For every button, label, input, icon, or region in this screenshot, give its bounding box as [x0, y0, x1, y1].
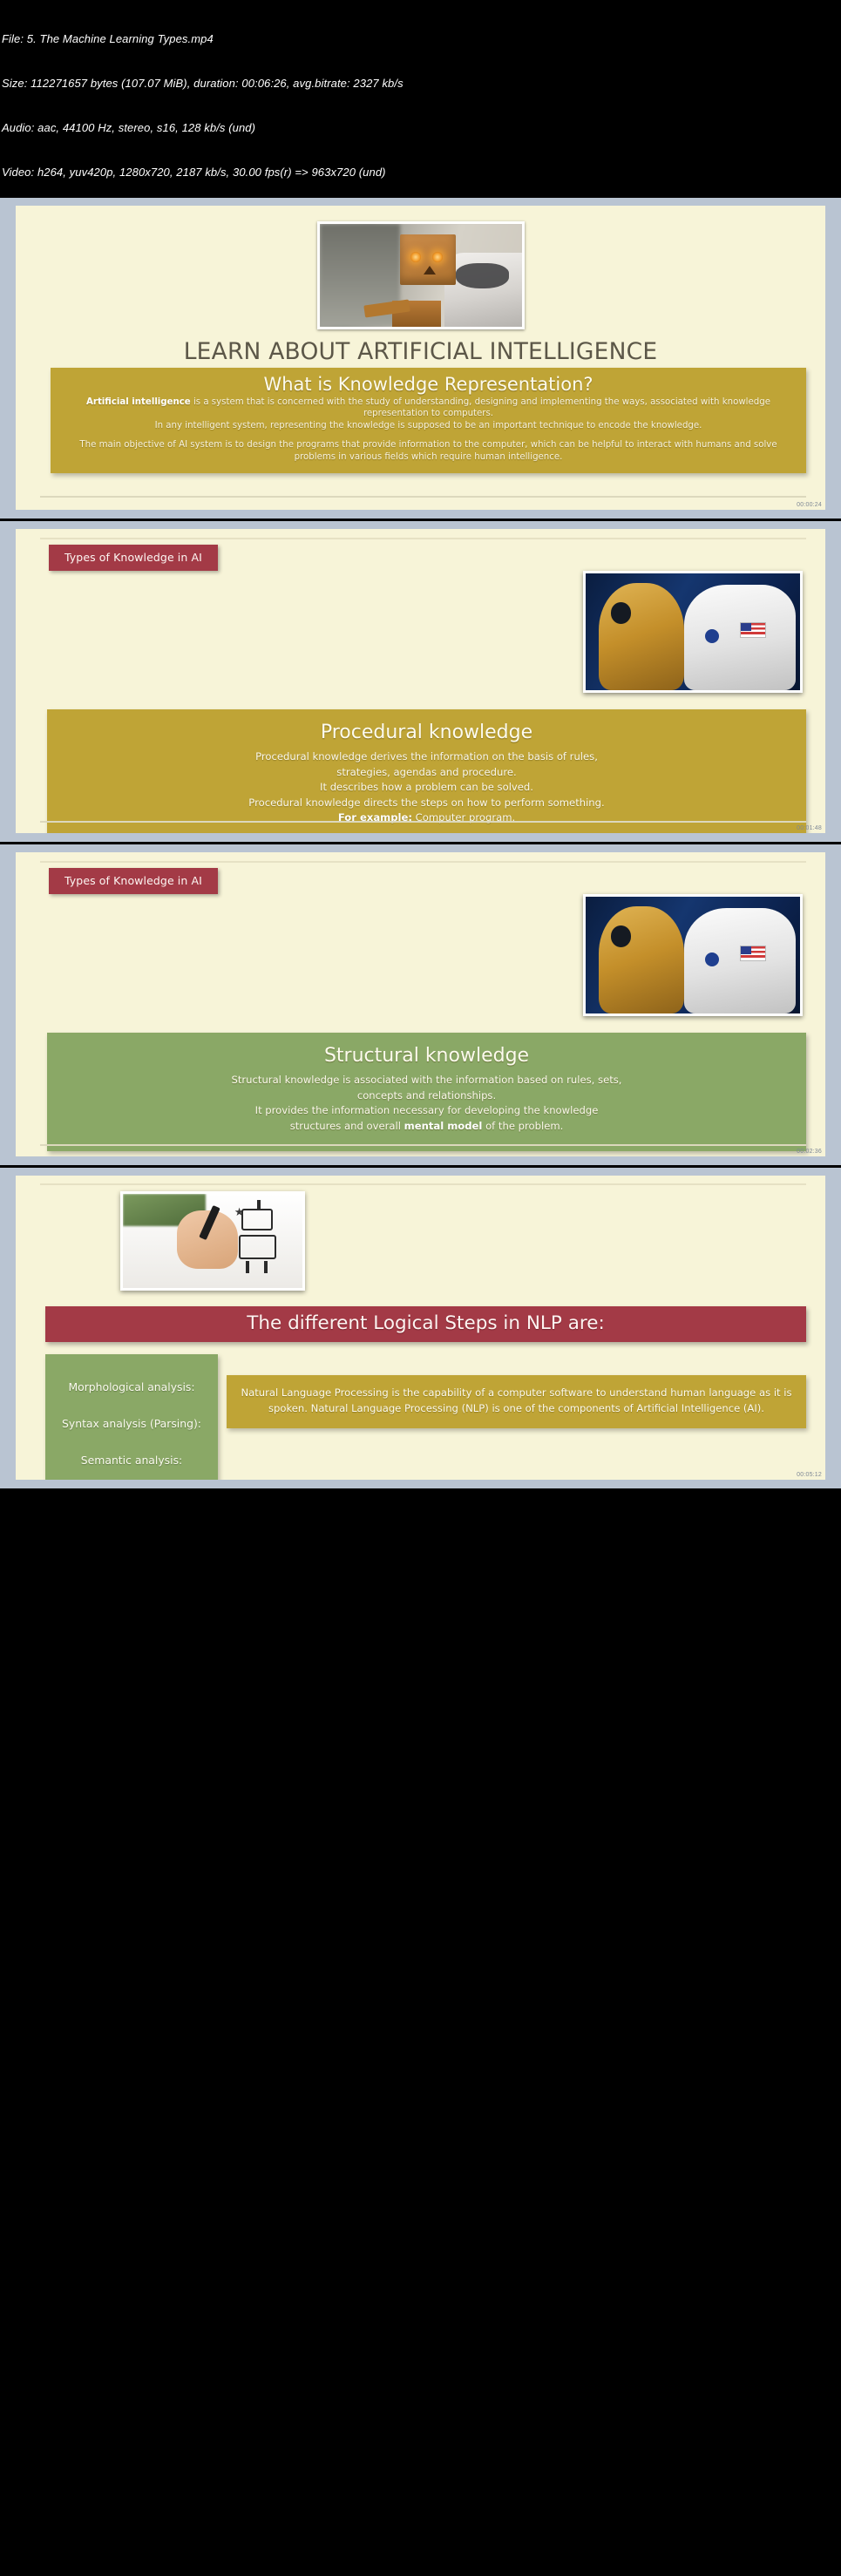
- media-info-video: Video: h264, yuv420p, 1280x720, 2187 kb/…: [2, 165, 839, 180]
- slide-1-photo: [317, 221, 525, 329]
- slide-4-note-text: Natural Language Processing is the capab…: [239, 1386, 794, 1416]
- thumbnail-frame-3[interactable]: Types of Knowledge in AI Structural know…: [0, 842, 841, 1165]
- slide-2-line-4: Procedural knowledge directs the steps o…: [58, 796, 796, 811]
- media-info-file: File: 5. The Machine Learning Types.mp4: [2, 31, 839, 46]
- slide-4-photo: ★ ★: [120, 1191, 305, 1291]
- slide-3-photo: [583, 894, 803, 1016]
- thumbnail-frame-1[interactable]: LEARN ABOUT ARTIFICIAL INTELLIGENCE What…: [0, 198, 841, 519]
- slide-4-columns: Morphological analysis: Syntax analysis …: [45, 1354, 806, 1480]
- slide-1-paragraph-3: The main objective of AI system is to de…: [59, 439, 797, 463]
- slide-1-paragraph-1-rest: is a system that is concerned with the s…: [191, 397, 770, 418]
- slide-1-bold-term: Artificial intelligence: [86, 397, 191, 407]
- slide-3-top-divider: [40, 861, 806, 863]
- slide-4-title: The different Logical Steps in NLP are:: [45, 1306, 806, 1342]
- slide-2-example: For example: Computer program.: [58, 810, 796, 826]
- slide-3-line-4: structures and overall mental model of t…: [58, 1119, 796, 1135]
- slide-2-badge: Types of Knowledge in AI: [49, 545, 218, 571]
- slide-2-line-3: It describes how a problem can be solved…: [58, 780, 796, 796]
- slide-1-title: LEARN ABOUT ARTIFICIAL INTELLIGENCE: [16, 338, 825, 365]
- slide-4-step-4: Pragmatic analysis:: [54, 1478, 209, 1480]
- slide-4-step-3: Semantic analysis:: [54, 1441, 209, 1478]
- slide-3-badge: Types of Knowledge in AI: [49, 868, 218, 894]
- slide-2: Types of Knowledge in AI Procedural know…: [16, 529, 825, 833]
- slide-1-paragraph-1: Artificial intelligence is a system that…: [59, 397, 797, 420]
- slide-1-timestamp: 00:00:24: [797, 502, 822, 508]
- slide-3-line-1: Structural knowledge is associated with …: [58, 1073, 796, 1088]
- slide-1-paragraph-2: In any intelligent system, representing …: [59, 420, 797, 431]
- media-info-audio: Audio: aac, 44100 Hz, stereo, s16, 128 k…: [2, 120, 839, 135]
- slide-3-content-box: Structural knowledge Structural knowledg…: [47, 1033, 806, 1151]
- slide-2-top-divider: [40, 538, 806, 539]
- slide-3-line-4-post: of the problem.: [482, 1120, 563, 1132]
- slide-3-timestamp: 00:02:36: [797, 1149, 822, 1155]
- slide-2-divider: [40, 821, 806, 823]
- slide-2-line-1: Procedural knowledge derives the informa…: [58, 749, 796, 765]
- slide-3-line-3: It provides the information necessary fo…: [58, 1103, 796, 1119]
- slide-3-divider: [40, 1144, 806, 1146]
- slide-2-photo: [583, 571, 803, 693]
- slide-3-box-heading: Structural knowledge: [58, 1043, 796, 1069]
- thumbnail-frame-4[interactable]: ★ ★ The different Logical Steps in NLP a…: [0, 1165, 841, 1488]
- slide-4: ★ ★ The different Logical Steps in NLP a…: [16, 1176, 825, 1480]
- media-info-size: Size: 112271657 bytes (107.07 MiB), dura…: [2, 76, 839, 91]
- slide-4-step-1: Morphological analysis:: [54, 1368, 209, 1405]
- slide-3-line-2: concepts and relationships.: [58, 1088, 796, 1104]
- slide-2-timestamp: 00:01:48: [797, 825, 822, 831]
- slide-1-box-heading: What is Knowledge Representation?: [59, 372, 797, 397]
- slide-3-bold-term: mental model: [404, 1120, 483, 1132]
- slide-4-top-divider: [40, 1183, 806, 1185]
- slide-4-steps-list: Morphological analysis: Syntax analysis …: [45, 1354, 218, 1480]
- slide-4-note-box: Natural Language Processing is the capab…: [227, 1375, 806, 1428]
- slide-1: LEARN ABOUT ARTIFICIAL INTELLIGENCE What…: [16, 206, 825, 510]
- thumbnail-contact-sheet: LEARN ABOUT ARTIFICIAL INTELLIGENCE What…: [0, 198, 841, 1488]
- slide-1-divider: [40, 496, 806, 498]
- slide-3-line-4-pre: structures and overall: [290, 1120, 404, 1132]
- slide-2-box-heading: Procedural knowledge: [58, 720, 796, 746]
- slide-2-content-box: Procedural knowledge Procedural knowledg…: [47, 709, 806, 833]
- thumbnail-frame-2[interactable]: Types of Knowledge in AI Procedural know…: [0, 519, 841, 842]
- slide-1-content-box: What is Knowledge Representation? Artifi…: [51, 368, 806, 473]
- media-info-header: File: 5. The Machine Learning Types.mp4 …: [0, 0, 841, 198]
- slide-3: Types of Knowledge in AI Structural know…: [16, 852, 825, 1156]
- slide-2-line-2: strategies, agendas and procedure.: [58, 765, 796, 781]
- slide-4-step-2: Syntax analysis (Parsing):: [54, 1405, 209, 1441]
- slide-4-timestamp: 00:05:12: [797, 1472, 822, 1478]
